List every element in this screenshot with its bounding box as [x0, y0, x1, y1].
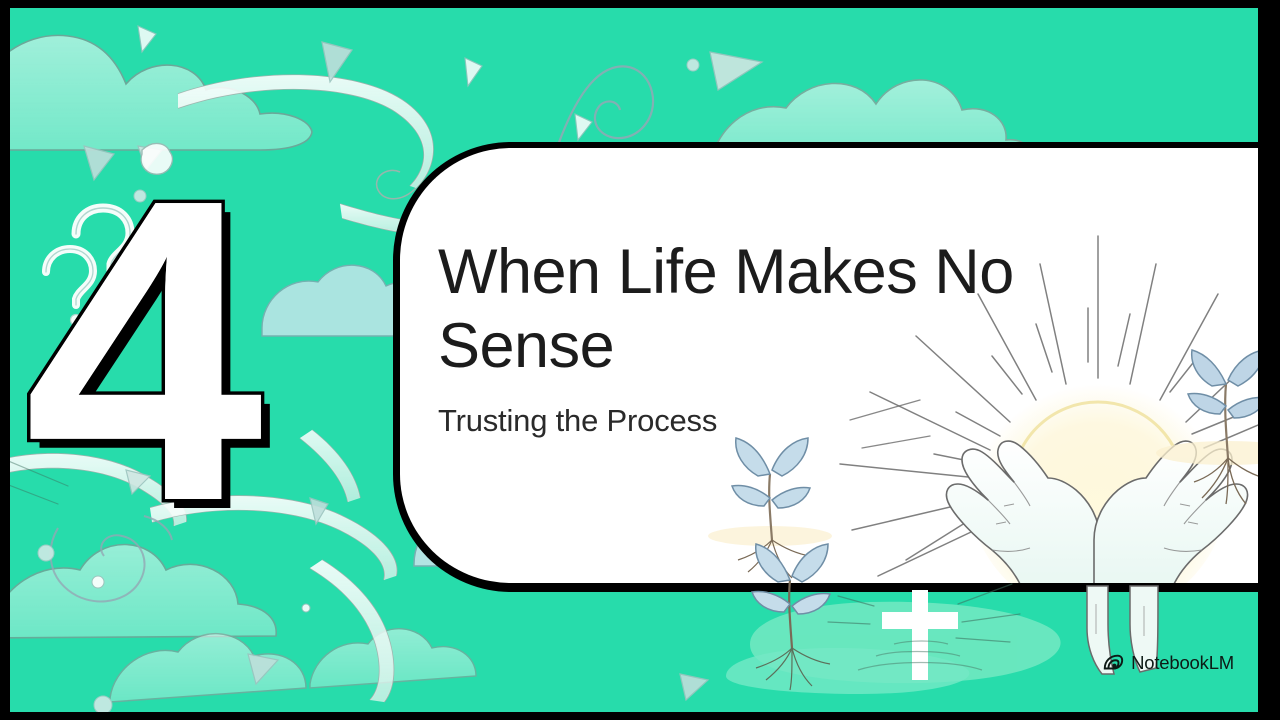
sprout-icon — [708, 438, 832, 578]
slide-stage: When Life Makes No Sense Trusting the Pr… — [0, 0, 1280, 720]
letterbox-right — [1258, 0, 1280, 720]
slide-title: When Life Makes No Sense — [438, 236, 1198, 383]
slide-number: 4 — [24, 136, 255, 566]
letterbox-top — [0, 0, 1280, 8]
content-card: When Life Makes No Sense Trusting the Pr… — [393, 142, 1258, 592]
letterbox-bottom — [0, 712, 1280, 720]
notebooklm-brand: NotebookLM — [1102, 652, 1234, 674]
video-frame: When Life Makes No Sense Trusting the Pr… — [10, 8, 1258, 712]
slide-subtitle: Trusting the Process — [438, 403, 1198, 439]
ribbon-icon — [300, 430, 360, 502]
card-text-block: When Life Makes No Sense Trusting the Pr… — [438, 236, 1198, 439]
cloud-icon — [110, 634, 306, 702]
notebooklm-swirl-icon — [1102, 652, 1124, 674]
letterbox-left — [0, 0, 10, 720]
card-clip: When Life Makes No Sense Trusting the Pr… — [400, 148, 1258, 583]
notebooklm-label: NotebookLM — [1131, 652, 1234, 674]
